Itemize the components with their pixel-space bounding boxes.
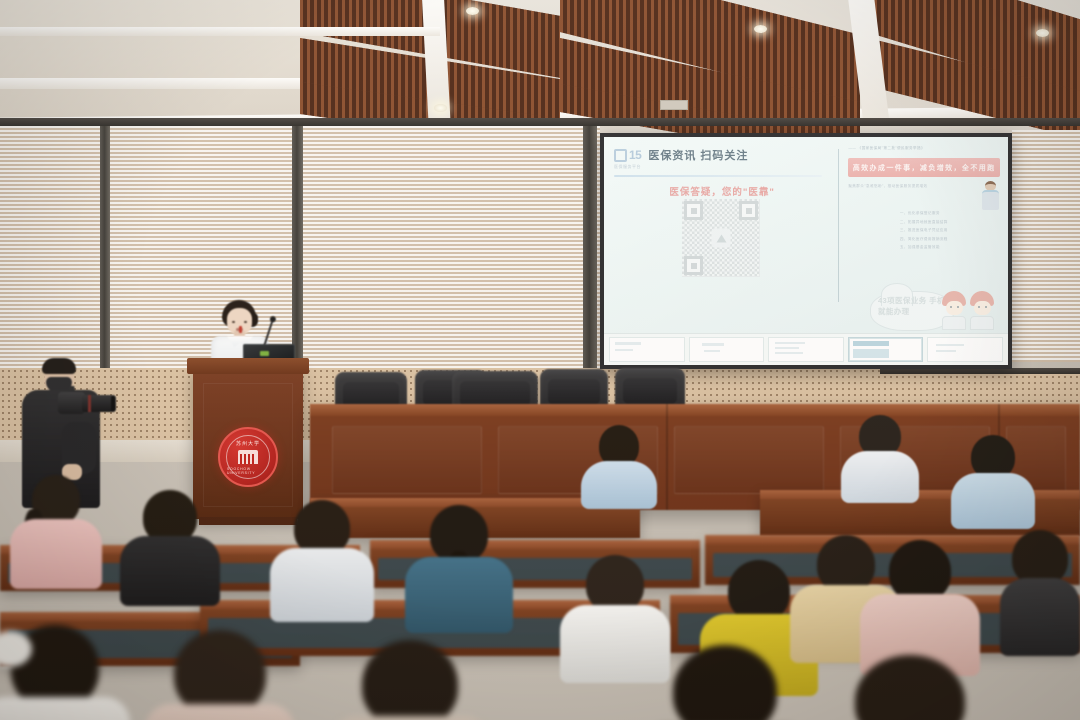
slide-right-list: 一、优化参保登记服务 二、拓展异地就医直接结算 三、推进医保电子凭证应用 四、简… [848,211,1000,250]
audience-member [580,425,658,503]
list-item: 三、推进医保电子凭证应用 [900,228,1000,233]
lecture-hall-photo: 15 医保资讯 扫码关注 医保服务平台 医保答疑，您的"医靠" [0,0,1080,720]
slide-thumbnail-strip[interactable] [604,333,1008,365]
slide-right-note: —— 《国家医保局"第二批"便民服务举措》 [848,146,1000,151]
wall-pillar-mid [292,124,303,372]
slide-right-panel: —— 《国家医保局"第二批"便民服务举措》 高效办成一件事，减负增效，全不用跑 … [838,137,1008,333]
audience-member [270,500,374,616]
projection-screen: 15 医保资讯 扫码关注 医保服务平台 医保答疑，您的"医靠" [600,133,1012,369]
slide-left-panel: 15 医保资讯 扫码关注 医保服务平台 医保答疑，您的"医靠" [604,137,838,333]
audience-member-foreground [145,630,295,720]
slide-header-title: 医保资讯 扫码关注 [648,147,748,163]
slide-divider-rule [614,175,822,177]
dslr-camera [58,386,114,416]
kid-cartoon-left-icon [942,291,968,331]
audience-member-foreground [820,655,1000,720]
seal-english-text: SOOCHOW UNIVERSITY [227,467,269,475]
kid-cartoon-right-icon [970,291,996,331]
audience-member [405,505,513,623]
thumbnail-4[interactable] [848,337,924,362]
cloud-callout: 43项医保业务 手机就能办理 [870,287,998,331]
brand-logo-text: 15 [629,148,641,162]
cloud-callout-text: 43项医保业务 手机就能办理 [878,296,950,318]
thumbnail-5[interactable] [927,337,1003,362]
thumbnail-3[interactable] [768,337,844,362]
qr-center-logo-icon [712,229,731,248]
brand-sub-text: 医保服务平台 [614,164,830,170]
slide-right-banner-text: 高效办成一件事，减负增效，全不用跑 [853,163,996,173]
slide-right-sub: 聚焦群众"急难愁盼"，推动医保服务提质增效 [848,184,1000,189]
upper-wall-band [0,118,1080,126]
audience-member-foreground [330,640,490,720]
list-item: 二、拓展异地就医直接结算 [900,220,1000,225]
audience-member-foreground [0,625,130,720]
audience-member [950,435,1036,521]
thumbnail-1[interactable] [609,337,685,362]
list-item: 五、加强基金监管效能 [900,245,1000,250]
audience-member [1000,530,1080,650]
slide-right-banner: 高效办成一件事，减负增效，全不用跑 [848,158,1000,177]
brand-logo: 15 [614,148,641,162]
wall-pillar-right [583,126,597,372]
wall-pillar-left [100,124,110,372]
qr-code [682,199,760,277]
audience-member [840,415,920,497]
audience-member [120,490,220,600]
doctor-cartoon-icon [982,181,1000,215]
university-seal: 苏州大学 SOOCHOW UNIVERSITY [218,427,278,487]
water-bottle [795,474,805,504]
audience-member [860,540,980,666]
seal-gate-icon [238,450,258,464]
seal-chinese-text: 苏州大学 [236,440,260,447]
logo-square-icon [614,149,627,162]
striped-wall-panel-right [1012,130,1080,362]
audience-member-foreground [640,645,810,720]
slide-red-subtitle: 医保答疑，您的"医靠" [614,184,830,198]
thumbnail-2[interactable] [689,337,765,362]
list-item: 四、简化医疗费用报销流程 [900,237,1000,242]
audience-member [10,475,102,585]
